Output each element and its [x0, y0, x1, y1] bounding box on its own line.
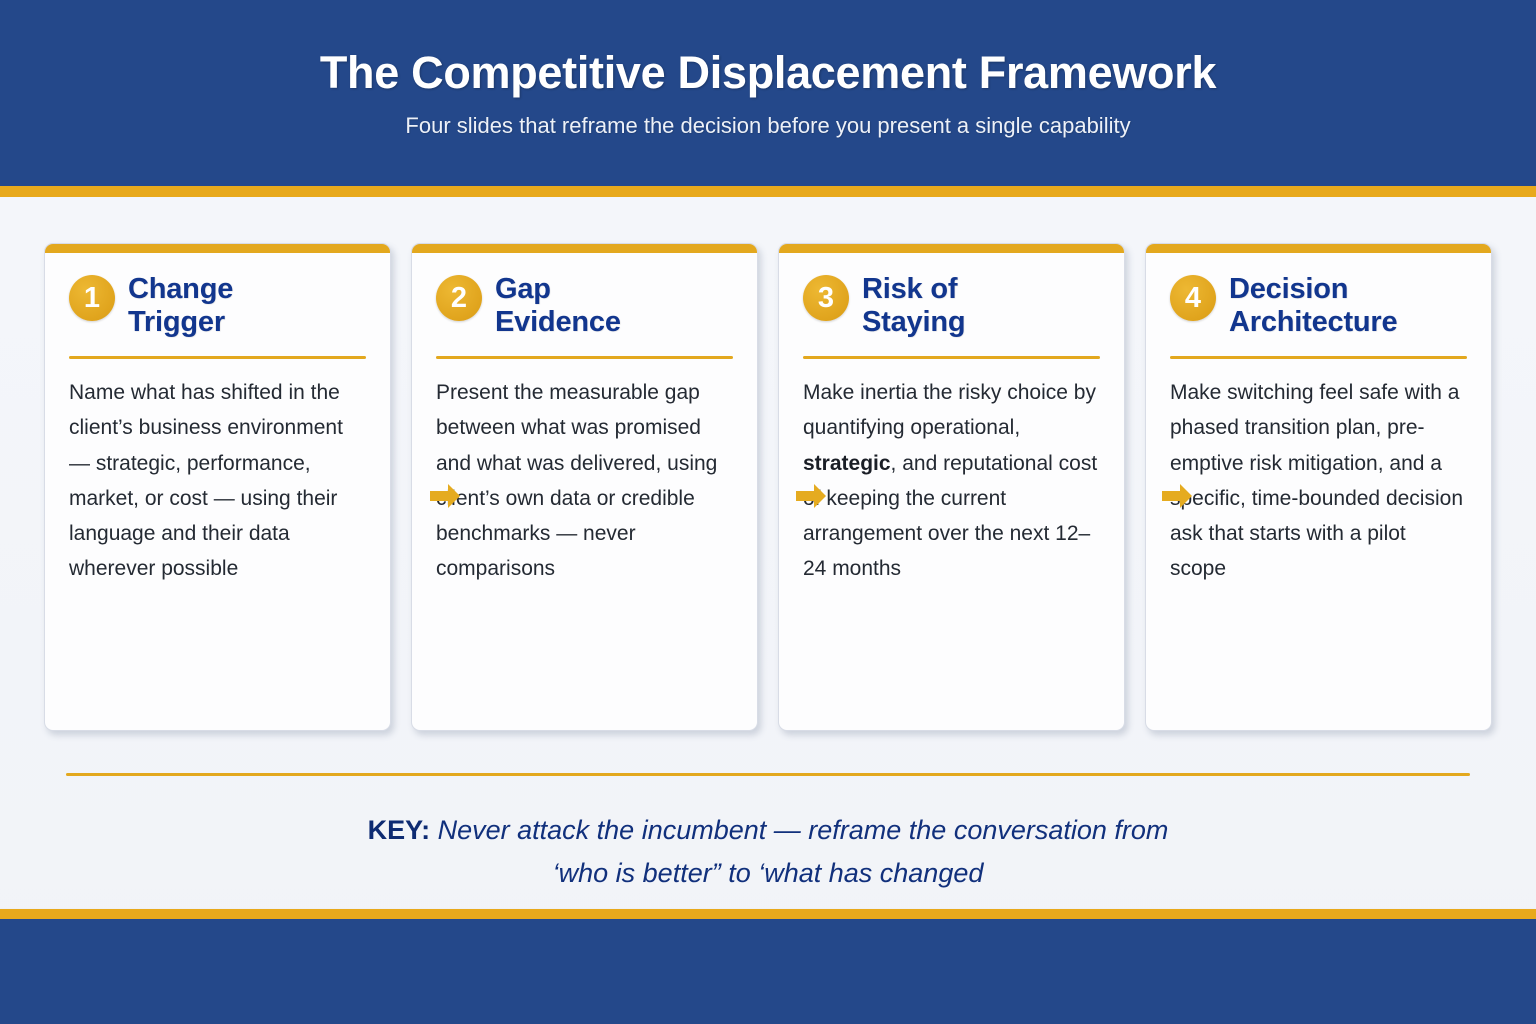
top-gold-divider — [0, 186, 1536, 197]
card-inner-4: 4 Decision Architecture Make switching f… — [1146, 253, 1491, 730]
card-divider-rule — [436, 356, 733, 359]
page-subtitle: Four slides that reframe the decision be… — [405, 113, 1130, 139]
card-body-text: Make inertia the risky choice by quantif… — [803, 375, 1100, 587]
step-number-badge: 1 — [69, 275, 115, 321]
card-body-text: Name what has shifted in the client’s bu… — [69, 375, 366, 587]
framework-card-3[interactable]: 3 Risk of Staying Make inertia the risky… — [778, 243, 1125, 731]
main-content: 1 Change Trigger Name what has shifted i… — [0, 197, 1536, 1024]
key-takeaway: KEY: Never attack the incumbent — refram… — [0, 809, 1536, 895]
key-section-divider — [66, 773, 1470, 776]
card-title: Risk of Staying — [862, 273, 965, 339]
card-divider-rule — [69, 356, 366, 359]
card-divider-rule — [803, 356, 1100, 359]
card-body-prefix: Make inertia the risky choice by quantif… — [803, 381, 1096, 439]
card-header-4: 4 Decision Architecture — [1170, 273, 1467, 339]
card-body-text: Make switching feel safe with a phased t… — [1170, 375, 1467, 587]
card-top-accent-bar — [779, 244, 1124, 253]
card-body-emphasis: strategic — [803, 452, 891, 475]
card-inner-1: 1 Change Trigger Name what has shifted i… — [45, 253, 390, 730]
card-header-3: 3 Risk of Staying — [803, 273, 1100, 339]
key-line-2: ‘who is better” to ‘what has changed — [120, 852, 1416, 895]
card-top-accent-bar — [45, 244, 390, 253]
card-title: Change Trigger — [128, 273, 233, 339]
card-title: Gap Evidence — [495, 273, 621, 339]
card-body-text: Present the measurable gap between what … — [436, 375, 733, 587]
card-top-accent-bar — [1146, 244, 1491, 253]
card-top-accent-bar — [412, 244, 757, 253]
key-label: KEY: — [368, 815, 431, 845]
step-number-badge: 3 — [803, 275, 849, 321]
card-header-1: 1 Change Trigger — [69, 273, 366, 339]
step-number-badge: 2 — [436, 275, 482, 321]
card-inner-2: 2 Gap Evidence Present the measurable ga… — [412, 253, 757, 730]
card-title: Decision Architecture — [1229, 273, 1397, 339]
header-banner: The Competitive Displacement Framework F… — [0, 0, 1536, 186]
card-inner-3: 3 Risk of Staying Make inertia the risky… — [779, 253, 1124, 730]
key-line-1: KEY: Never attack the incumbent — refram… — [120, 809, 1416, 852]
key-text-line1: Never attack the incumbent — reframe the… — [430, 815, 1168, 845]
framework-card-4[interactable]: 4 Decision Architecture Make switching f… — [1145, 243, 1492, 731]
step-number-badge: 4 — [1170, 275, 1216, 321]
framework-card-1[interactable]: 1 Change Trigger Name what has shifted i… — [44, 243, 391, 731]
infographic-page: The Competitive Displacement Framework F… — [0, 0, 1536, 1024]
card-divider-rule — [1170, 356, 1467, 359]
card-header-2: 2 Gap Evidence — [436, 273, 733, 339]
framework-card-2[interactable]: 2 Gap Evidence Present the measurable ga… — [411, 243, 758, 731]
page-title: The Competitive Displacement Framework — [320, 47, 1216, 99]
framework-cards-row: 1 Change Trigger Name what has shifted i… — [44, 243, 1492, 731]
footer-banner — [0, 919, 1536, 1024]
bottom-gold-divider — [0, 909, 1536, 919]
